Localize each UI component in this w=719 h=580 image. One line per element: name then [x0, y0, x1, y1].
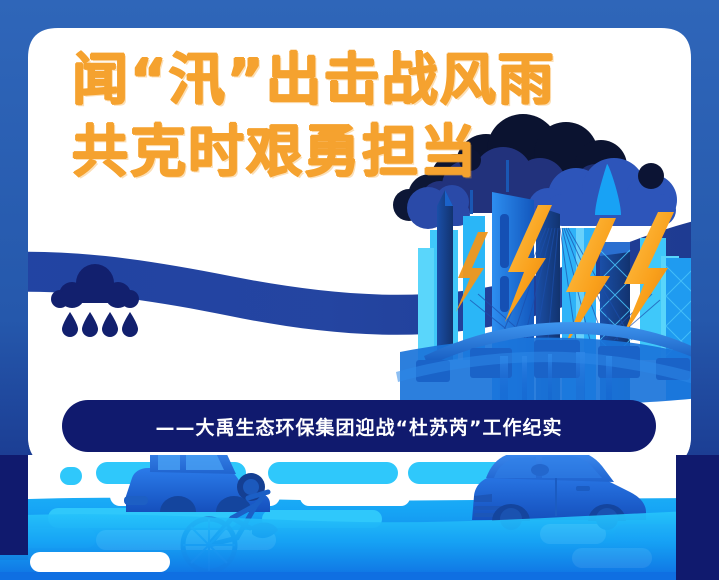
water-stripe-accent	[30, 552, 170, 572]
building-spire	[437, 190, 453, 360]
poster-artwork	[0, 0, 719, 580]
poster-root: 闻“汛”出击战风雨 共克时艰勇担当 ——大禹生态环保集团迎战“杜苏芮”工作纪实	[0, 0, 719, 580]
subtitle-text: ——大禹生态环保集团迎战“杜苏芮”工作纪实	[156, 413, 563, 440]
subtitle-banner: ——大禹生态环保集团迎战“杜苏芮”工作纪实	[62, 400, 656, 452]
